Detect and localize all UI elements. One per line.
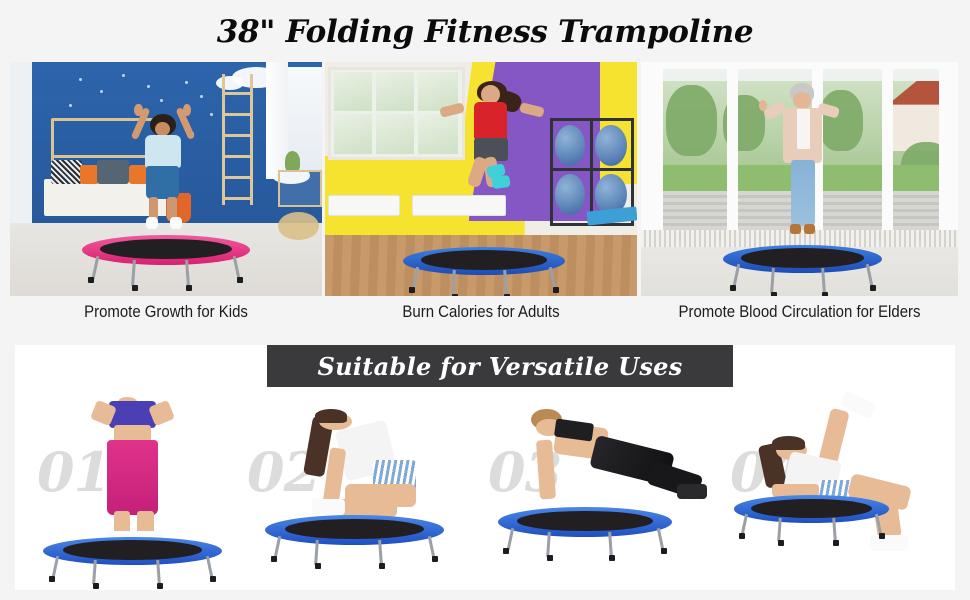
window-pane (376, 114, 414, 153)
adult-shoe (491, 175, 510, 190)
trampoline-foot (503, 548, 509, 554)
trampoline-foot (88, 277, 94, 283)
photo-elders (641, 62, 958, 296)
trampoline-mat (751, 499, 872, 518)
elder-shoe (790, 224, 801, 235)
trampoline-foot (870, 285, 876, 291)
trampoline-foot (730, 285, 736, 291)
trampoline-leg (206, 556, 213, 577)
trampoline-leg (546, 532, 551, 557)
trampoline-foot (504, 294, 510, 296)
exercise-ball (555, 174, 585, 215)
trampoline-leg (233, 256, 241, 279)
fig-leggings (107, 440, 159, 515)
exercise-ball (555, 125, 585, 166)
fig-hair (772, 436, 805, 450)
figure-01 (15, 393, 250, 590)
trampoline-mat (63, 540, 202, 560)
trampoline-foot (132, 285, 138, 291)
trampoline-blue (403, 247, 565, 296)
trampoline-foot (553, 287, 559, 293)
page-title: 38" Folding Fitness Trampoline (0, 14, 970, 50)
trampoline-foot (237, 277, 243, 283)
versatile-uses-panel: Suitable for Versatile Uses 01 (15, 345, 955, 590)
caption-kids: Promote Growth for Kids (29, 302, 304, 322)
door-frame (641, 62, 663, 233)
elder-face (793, 92, 811, 109)
trampoline-foot (452, 294, 458, 296)
step-04: 04 (720, 393, 955, 590)
trampoline-mat (741, 248, 865, 268)
photo-row (10, 62, 958, 296)
adult-tank-top (474, 102, 506, 140)
trampoline-foot (409, 287, 415, 293)
trampoline-pink (82, 235, 250, 286)
figure-03 (470, 393, 705, 590)
trampoline-leg (866, 264, 873, 286)
trampoline-foot (609, 555, 615, 561)
adult-figure (450, 81, 531, 217)
steps-row: 01 (15, 393, 955, 590)
figure-04 (720, 393, 955, 590)
trampoline-foot (210, 576, 216, 582)
door-frame (939, 62, 958, 233)
photo-adults (325, 62, 637, 296)
trampoline-foot (778, 540, 784, 546)
trampoline-leg (770, 268, 775, 293)
step-02: 02 (237, 393, 472, 590)
child-shoe (146, 217, 158, 229)
adult-head (481, 85, 500, 104)
trampoline-foot (186, 285, 192, 291)
infographic-page: 38" Folding Fitness Trampoline (0, 0, 970, 600)
caption-elders: Promote Blood Circulation for Elders (660, 302, 939, 322)
elder-top (797, 109, 810, 149)
trampoline-blue (265, 515, 444, 566)
window-pane (334, 114, 372, 153)
trampoline-leg (314, 540, 319, 565)
trampoline-foot (315, 563, 321, 569)
elder-hand (759, 100, 767, 111)
trampoline-foot (271, 556, 277, 562)
door-mullion (727, 62, 738, 233)
door-header (641, 62, 958, 69)
tree (666, 85, 717, 155)
trampoline-foot (879, 533, 885, 539)
trampoline-foot (432, 556, 438, 562)
trampoline-leg (52, 556, 59, 577)
fig-hair (315, 409, 348, 423)
trampoline-leg (131, 260, 136, 286)
trampoline-foot (93, 583, 99, 589)
child-shoe (170, 217, 182, 229)
trampoline-foot (49, 576, 55, 582)
fig-shoe (677, 484, 708, 500)
trampoline-leg (428, 536, 435, 558)
child-shorts (146, 166, 179, 199)
radiator (328, 195, 400, 216)
trampoline-leg (549, 266, 556, 288)
caption-adults: Burn Calories for Adults (344, 302, 619, 322)
trampoline-leg (92, 560, 97, 584)
floor-basket (278, 212, 319, 240)
section-banner: Suitable for Versatile Uses (267, 345, 733, 387)
exercise-ball (595, 125, 627, 166)
trampoline-leg (451, 270, 456, 295)
door-mullion (882, 62, 893, 233)
step-01: 01 (15, 393, 250, 590)
elder-shoe (804, 224, 815, 235)
trampoline-foot (379, 563, 385, 569)
trampoline-leg (412, 266, 419, 288)
trampoline-foot (547, 555, 553, 561)
photo-kids (10, 62, 322, 296)
trampoline-leg (732, 264, 739, 286)
trampoline-leg (875, 514, 882, 534)
window-pane (334, 72, 372, 111)
trampoline-leg (656, 528, 663, 550)
fig-shoe (312, 499, 345, 515)
trampoline-leg (741, 514, 748, 534)
pillow (80, 165, 99, 184)
trampoline-blue (723, 245, 882, 294)
figure-02 (237, 393, 472, 590)
trampoline-mat (285, 519, 424, 539)
trampoline-blue (43, 537, 222, 586)
section-banner-text: Suitable for Versatile Uses (317, 352, 682, 381)
trampoline-foot (833, 540, 839, 546)
wall-ladder (222, 74, 253, 205)
trampoline-foot (157, 583, 163, 589)
child-figure (125, 104, 200, 233)
trampoline-blue (498, 507, 672, 558)
trampoline-blue (734, 495, 889, 542)
elder-jeans (791, 160, 815, 225)
trampoline-mat (421, 250, 548, 270)
trampoline-mat (100, 239, 231, 260)
pillow (97, 160, 128, 183)
elder-figure (768, 83, 838, 237)
trampoline-leg (274, 536, 281, 558)
caption-row: Promote Growth for Kids Burn Calories fo… (10, 302, 958, 332)
step-03: 03 (470, 393, 705, 590)
trampoline-leg (91, 256, 99, 279)
wall-dot (185, 81, 188, 84)
trampoline-leg (506, 528, 513, 550)
child-shirt (145, 135, 181, 168)
trampoline-foot (822, 292, 828, 296)
bedroom-side-wall (10, 62, 32, 223)
shelf (278, 170, 322, 207)
pillow (51, 160, 82, 183)
trampoline-foot (739, 533, 745, 539)
trampoline-foot (771, 292, 777, 296)
window-pane (376, 72, 414, 111)
trampoline-foot (661, 548, 667, 554)
